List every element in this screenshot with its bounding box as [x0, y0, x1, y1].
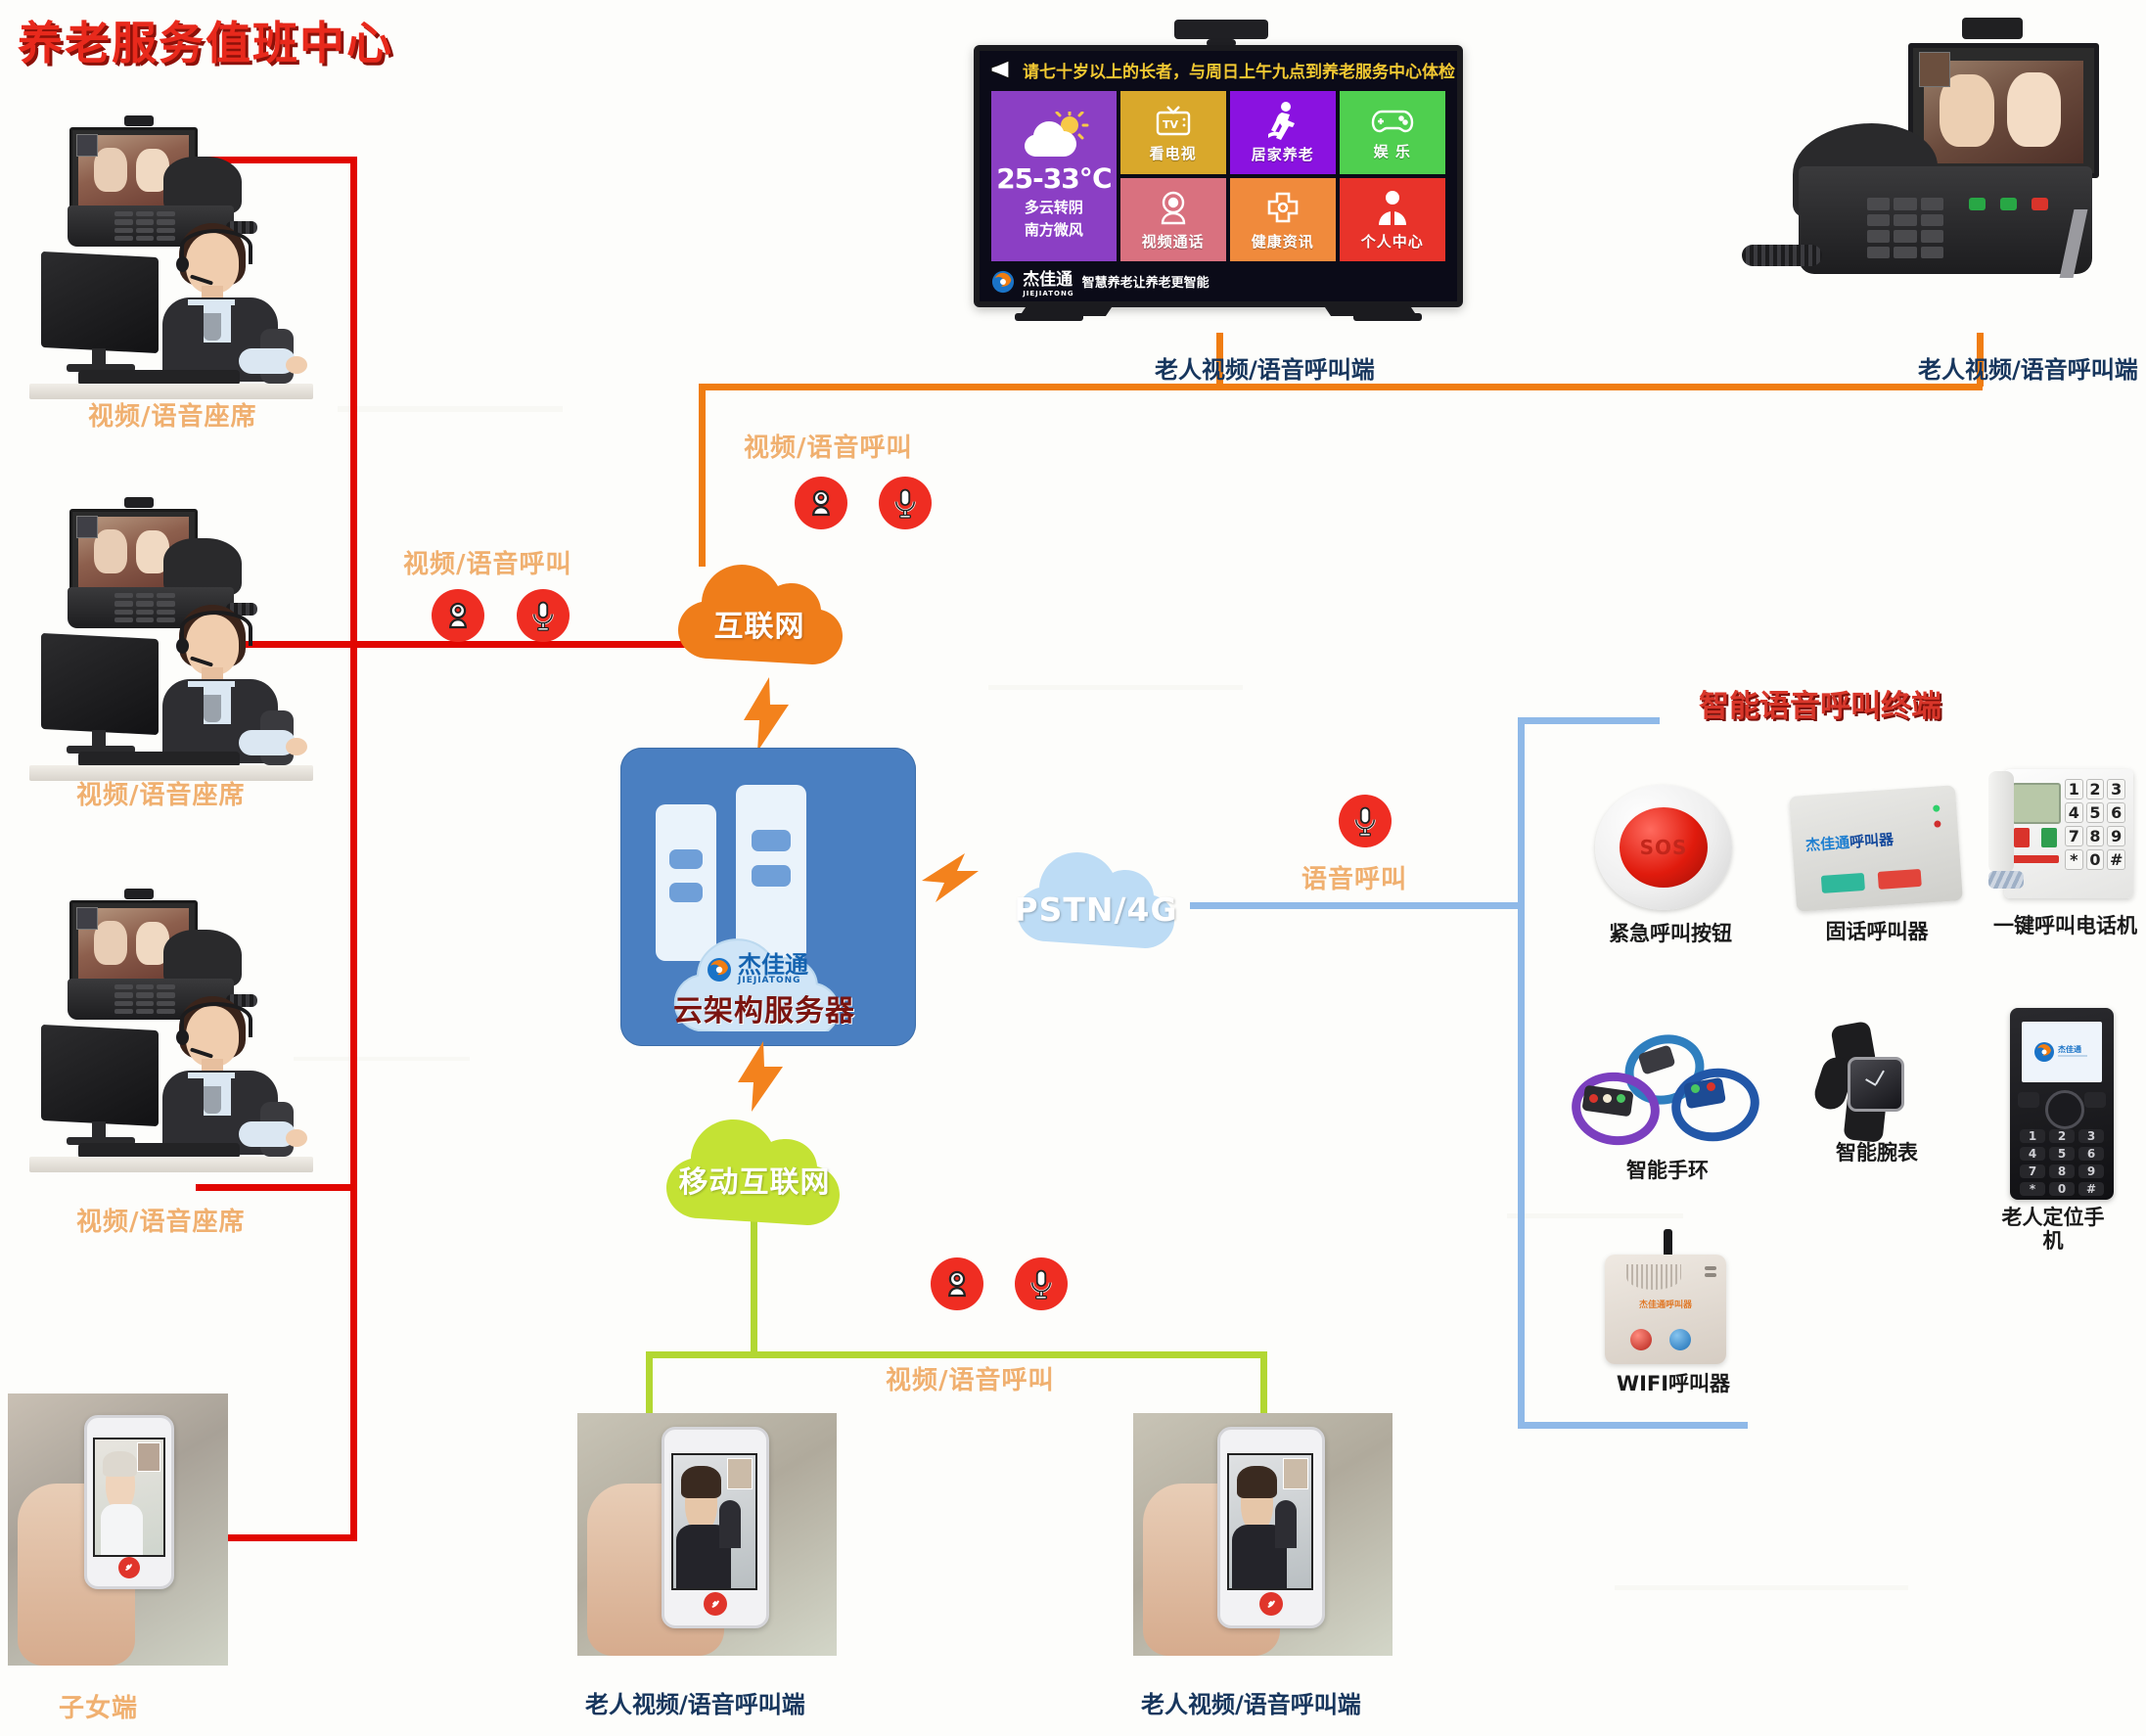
internet-cloud: 互联网 — [662, 543, 857, 672]
smart-watch-icon[interactable] — [1812, 1024, 1941, 1141]
microphone-icon — [879, 477, 932, 529]
health-icon — [1263, 188, 1302, 227]
gamepad-icon — [1369, 104, 1416, 137]
smart-tv-terminal: 请七十岁以上的长者，与周日上午九点到养老服务中心体检 — [974, 20, 1463, 343]
webcam-icon — [1154, 188, 1193, 227]
keypad-key[interactable]: 9 — [2078, 1165, 2104, 1178]
elderly-terminal-label-phone2: 老人视频/语音呼叫端 — [1141, 1685, 1361, 1719]
device-gps-feature-phone: 杰佳通 1 2 3 4 5 6 7 8 9 * 0 # 老人定位手 — [1983, 1008, 2145, 1233]
camera-icon — [432, 589, 484, 642]
phone-answer-button[interactable] — [1969, 198, 1986, 210]
device-label: WIFI呼叫器 — [1585, 1372, 1761, 1395]
device-emergency-call-button: SOS 紧急呼叫按钮 — [1577, 785, 1763, 961]
megaphone-icon — [989, 60, 1015, 79]
page-title: 养老服务值班中心 — [18, 8, 393, 72]
device-one-key-call-phone: 1 2 3 4 5 6 7 8 9 * 0 # 一键呼叫电话机 — [1985, 769, 2146, 965]
fixed-line-caller-icon[interactable]: 杰佳通呼叫器 — [1789, 785, 1963, 912]
phone-number-keypad[interactable]: 1 2 3 4 5 6 7 8 9 * 0 # — [2065, 779, 2125, 853]
phone-handset — [1988, 771, 2014, 873]
tv-ticker: 请七十岁以上的长者，与周日上午九点到养老服务中心体检 — [980, 51, 1457, 88]
elderly-care-icon — [1262, 101, 1303, 140]
red-bar — [2012, 855, 2059, 863]
link-label-internet-to-terminals: 视频/语音呼叫 — [744, 428, 913, 464]
tv-footer-branding: 杰佳通 JIEJIATONG 智慧养老让养老更智能 — [991, 264, 1209, 299]
keypad-key[interactable]: 1 — [2065, 779, 2083, 799]
link-red-child — [217, 1534, 357, 1541]
headset-icon — [180, 611, 252, 646]
svg-text:杰佳通: 杰佳通 — [2058, 1044, 2081, 1054]
camera-icon — [931, 1257, 983, 1310]
microphone-icon — [517, 589, 570, 642]
tv-tile-home-care[interactable]: 居家养老 — [1230, 91, 1336, 174]
phone-screen — [1908, 43, 2099, 178]
keypad-key[interactable]: 8 — [2049, 1165, 2075, 1178]
keypad-key[interactable]: # — [2078, 1182, 2104, 1196]
svg-text:TV: TV — [1163, 118, 1179, 131]
keypad-key[interactable]: * — [2065, 849, 2083, 870]
link-green-drop-right — [1260, 1351, 1267, 1422]
keypad-key[interactable]: 4 — [2065, 802, 2083, 823]
phone-keypad — [1867, 198, 1943, 258]
server-name: 云架构服务器 — [636, 986, 892, 1029]
server-cloud-shape: 杰佳通 JIEJIATONG 云架构服务器 — [636, 916, 892, 1031]
phone-camera — [124, 497, 154, 508]
child-terminal-phone — [8, 1393, 228, 1666]
speaker-grill — [1626, 1264, 1681, 1290]
video-voice-seat-1 — [20, 108, 333, 411]
smartphone-body — [662, 1427, 769, 1628]
keypad-key[interactable]: 0 — [2049, 1182, 2075, 1196]
mobile-internet-label: 移动互联网 — [648, 1101, 861, 1244]
emergency-key[interactable] — [1630, 1329, 1652, 1350]
jiejiatong-logo-icon: 杰佳通 — [2032, 1039, 2091, 1065]
video-call-screen — [1227, 1453, 1313, 1590]
video-call-screen — [93, 1438, 165, 1557]
smartphone-body — [1217, 1427, 1325, 1628]
navigation-key[interactable] — [2045, 1090, 2084, 1129]
sun-cloud-icon — [1019, 112, 1089, 160]
tv-tile-personal-center[interactable]: 个人中心 — [1340, 178, 1445, 261]
internet-cloud-label: 互联网 — [662, 543, 857, 688]
elderly-smartphone-1 — [577, 1413, 837, 1656]
keypad-key[interactable]: 4 — [2020, 1147, 2045, 1161]
end-call-button[interactable] — [118, 1557, 140, 1578]
sos-key[interactable] — [2014, 828, 2030, 847]
keypad-key[interactable]: 9 — [2107, 826, 2125, 846]
cancel-key[interactable] — [1669, 1329, 1691, 1350]
link-red-to-internet — [350, 641, 685, 648]
server-brand-cn: 杰佳通 — [738, 951, 808, 979]
tv-brand-cn: 杰佳通 — [1023, 270, 1073, 290]
tv-stand-leg — [1015, 313, 1083, 321]
tv-tile-label: 居家养老 — [1252, 144, 1314, 164]
headset-icon — [180, 229, 252, 264]
green-key[interactable] — [2041, 828, 2057, 847]
device-wifi-caller: 杰佳通呼叫器 WIFI呼叫器 — [1585, 1229, 1761, 1405]
tv-tile-entertainment[interactable]: 娱 乐 — [1340, 91, 1445, 174]
phone-camera — [1962, 18, 2023, 39]
link-green-horizontal-bus — [646, 1351, 1267, 1358]
tv-tile-label: 娱 乐 — [1374, 141, 1411, 161]
device-label: 智能腕表 — [1793, 1141, 1961, 1165]
sos-button-icon[interactable]: SOS — [1595, 785, 1732, 910]
end-call-button[interactable] — [704, 1592, 727, 1616]
phone-hold-button[interactable] — [2000, 198, 2017, 210]
lightning-bolt-icon — [736, 675, 795, 754]
jiejiatong-logo-icon — [991, 270, 1015, 294]
keypad-key[interactable]: 7 — [2065, 826, 2083, 846]
keypad-key[interactable]: 7 — [2020, 1165, 2045, 1178]
microphone-icon — [1339, 795, 1392, 847]
wifi-caller-icon[interactable]: 杰佳通呼叫器 — [1605, 1255, 1726, 1364]
pstn-4g-cloud: PSTN/4G — [1000, 830, 1192, 953]
keypad-key[interactable]: 2 — [2049, 1129, 2075, 1143]
tv-tile-weather[interactable]: 25-33℃ 多云转阴 南方微风 — [991, 91, 1116, 261]
elderly-terminal-label-ipphone: 老人视频/语音呼叫端 — [1918, 350, 2138, 385]
tv-camera-icon — [1174, 20, 1268, 39]
link-orange-vertical-up — [699, 384, 706, 567]
keypad-key[interactable]: 3 — [2107, 779, 2125, 799]
keypad-key[interactable]: 5 — [2086, 802, 2105, 823]
device-label: 老人定位手机 — [1994, 1206, 2112, 1253]
elderly-smartphone-2 — [1133, 1413, 1393, 1656]
device-label: 一键呼叫电话机 — [1985, 914, 2146, 937]
agent-person — [145, 605, 311, 761]
device-smart-watch: 智能腕表 — [1793, 1024, 1961, 1180]
tv-screen: 请七十岁以上的长者，与周日上午九点到养老服务中心体检 — [980, 51, 1457, 301]
hangup-key[interactable] — [2084, 1092, 2106, 1108]
tv-weather-temperature: 25-33℃ — [996, 162, 1111, 195]
link-label-seat-to-internet: 视频/语音呼叫 — [403, 544, 572, 580]
link-blue-bracket-bottom — [1518, 1422, 1748, 1429]
tv-tile-watch-tv[interactable]: TV 看电视 — [1120, 91, 1226, 174]
agent-person — [145, 996, 311, 1153]
link-blue-bracket-vertical — [1518, 717, 1525, 1429]
cloud-architecture-server: 杰佳通 JIEJIATONG 云架构服务器 — [620, 748, 916, 1046]
user-icon — [1374, 188, 1411, 227]
seat-label-3: 视频/语音座席 — [76, 1202, 246, 1238]
seat-label-2: 视频/语音座席 — [76, 775, 246, 811]
link-blue-bracket-top — [1518, 717, 1660, 724]
watch-face — [1848, 1057, 1904, 1112]
keypad-key[interactable]: 2 — [2086, 779, 2105, 799]
device-label: 智能手环 — [1570, 1159, 1765, 1182]
video-voice-seat-3 — [20, 881, 333, 1184]
tv-stand-leg — [1353, 313, 1422, 321]
diagram-canvas: 养老服务值班中心 视频/语音呼叫 视频/语音呼叫 语音呼叫 视频/语音 — [0, 0, 2146, 1736]
tv-tile-label: 视频通话 — [1142, 231, 1205, 251]
end-call-button[interactable] — [1259, 1592, 1283, 1616]
tv-slogan: 智慧养老让养老更智能 — [1082, 272, 1210, 291]
phone-camera — [124, 115, 154, 126]
phone-camera — [124, 889, 154, 899]
link-orange-horizontal-bus — [699, 384, 1983, 390]
server-brand-en: JIEJIATONG — [738, 977, 808, 985]
device-label: 紧急呼叫按钮 — [1577, 922, 1763, 945]
call-key[interactable] — [2018, 1092, 2039, 1108]
agent-desk — [29, 1157, 313, 1172]
link-red-vertical-bus — [350, 157, 357, 1540]
jiejiatong-logo-icon — [707, 957, 732, 982]
phone-body — [1799, 166, 2092, 274]
tv-icon: TV — [1152, 102, 1195, 139]
smart-band-icon[interactable] — [1570, 1035, 1765, 1151]
phone-cord — [1988, 871, 2024, 889]
smartphone-body — [84, 1415, 174, 1589]
background-watermark — [988, 685, 1243, 690]
tv-tile-health-news[interactable]: 健康资讯 — [1230, 178, 1336, 261]
link-label-mobile-video: 视频/语音呼叫 — [886, 1360, 1055, 1396]
elderly-terminal-label-phone1: 老人视频/语音呼叫端 — [585, 1685, 805, 1719]
link-green-drop-left — [646, 1351, 653, 1422]
keypad-key[interactable]: 5 — [2049, 1147, 2075, 1161]
keypad-key[interactable]: 8 — [2086, 826, 2105, 846]
tv-brand-en: JIEJIATONG — [1023, 290, 1073, 297]
tv-weather-wind: 南方微风 — [1025, 219, 1083, 240]
child-terminal-label: 子女端 — [59, 1688, 138, 1724]
tv-ticker-text: 请七十岁以上的长者，与周日上午九点到养老服务中心体检 — [1023, 58, 1455, 82]
mobile-internet-cloud: 移动互联网 — [648, 1101, 861, 1230]
keypad-key[interactable]: 0 — [2086, 849, 2105, 870]
headset-icon — [180, 1002, 252, 1037]
device-fixed-line-caller: 杰佳通呼叫器 固话呼叫器 — [1779, 783, 1975, 959]
phone-cord — [1742, 245, 1822, 266]
pstn-4g-label: PSTN/4G — [1000, 830, 1192, 971]
server-brand: 杰佳通 JIEJIATONG — [707, 953, 808, 985]
lightning-bolt-icon — [920, 847, 1002, 908]
tv-weather-condition: 多云转阴 — [1025, 197, 1083, 217]
seat-label-1: 视频/语音座席 — [88, 396, 257, 433]
phone-hangup-button[interactable] — [2032, 198, 2048, 210]
phone-screen: 杰佳通 — [2022, 1022, 2102, 1082]
device-label: 固话呼叫器 — [1779, 920, 1975, 943]
camera-icon — [795, 477, 847, 529]
keypad-key[interactable]: # — [2107, 849, 2125, 870]
keypad-key[interactable]: 6 — [2078, 1147, 2104, 1161]
keypad-key[interactable]: 3 — [2078, 1129, 2104, 1143]
tv-tile-grid: 25-33℃ 多云转阴 南方微风 TV 看电视 — [991, 91, 1445, 261]
link-blue-from-pstn — [1190, 902, 1523, 909]
background-watermark — [1507, 1213, 1683, 1218]
video-call-screen — [671, 1453, 757, 1590]
tv-tile-video-call[interactable]: 视频通话 — [1120, 178, 1226, 261]
keypad-key[interactable]: 6 — [2107, 802, 2125, 823]
keypad-key[interactable]: * — [2020, 1182, 2045, 1196]
tv-tile-label: 健康资讯 — [1252, 231, 1314, 251]
link-label-pstn-voice: 语音呼叫 — [1301, 859, 1407, 895]
background-watermark — [1615, 1585, 1908, 1590]
tv-tile-label: 看电视 — [1150, 143, 1197, 163]
tv-tile-label: 个人中心 — [1361, 231, 1424, 251]
smart-terminal-panel-title: 智能语音呼叫终端 — [1699, 681, 1941, 725]
phone-number-keypad[interactable]: 1 2 3 4 5 6 7 8 9 * 0 # — [2020, 1129, 2104, 1190]
elderly-terminal-label-tv: 老人视频/语音呼叫端 — [1155, 350, 1375, 385]
device-smart-band: 智能手环 — [1570, 1035, 1765, 1202]
gps-feature-phone-icon[interactable]: 杰佳通 1 2 3 4 5 6 7 8 9 * 0 # — [2010, 1008, 2114, 1200]
ip-video-phone-terminal — [1722, 18, 2128, 331]
tv-bezel: 请七十岁以上的长者，与周日上午九点到养老服务中心体检 — [974, 45, 1463, 307]
background-watermark — [338, 406, 563, 412]
keypad-key[interactable]: 1 — [2020, 1129, 2045, 1143]
link-red-seat3 — [196, 1184, 357, 1191]
microphone-icon — [1015, 1257, 1068, 1310]
agent-person — [145, 223, 311, 380]
video-voice-seat-2 — [20, 489, 333, 793]
